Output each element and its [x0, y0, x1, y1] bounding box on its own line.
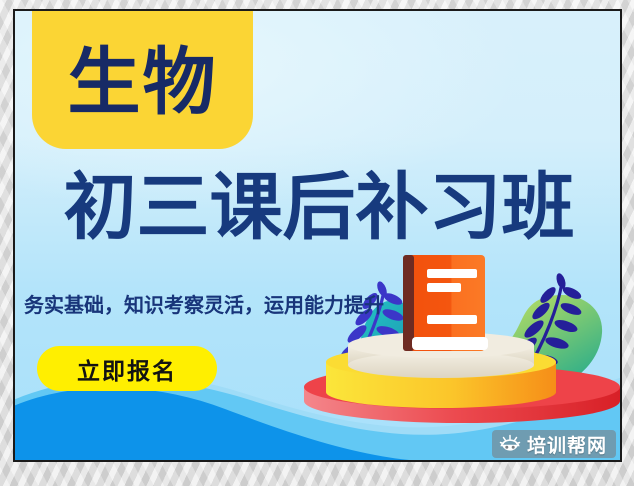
poster-root: 生物 初三课后补习班 务实基础，知识考察灵活，运用能力提升 立即报名	[0, 0, 634, 486]
podium-top-tier	[348, 332, 534, 378]
page-subtitle: 务实基础，知识考察灵活，运用能力提升	[24, 289, 384, 318]
right-leaf-blob-icon	[500, 295, 602, 394]
sun-eye-icon	[499, 434, 521, 454]
enroll-now-button[interactable]: 立即报名	[37, 346, 217, 391]
podium-base	[304, 365, 620, 423]
page-title: 初三课后补习班	[21, 171, 617, 244]
watermark-label: 培训帮网	[527, 431, 607, 458]
book-podium-illustration	[300, 249, 622, 434]
poster-canvas: 生物 初三课后补习班 务实基础，知识考察灵活，运用能力提升 立即报名	[13, 9, 622, 462]
subject-badge: 生物	[32, 9, 253, 149]
textbook-icon	[403, 255, 488, 351]
right-fern-icon	[508, 272, 582, 382]
subject-badge-label: 生物	[68, 40, 218, 119]
watermark: 培训帮网	[492, 430, 616, 458]
enroll-now-button-label: 立即报名	[77, 352, 177, 386]
podium-mid-tier	[326, 346, 556, 408]
